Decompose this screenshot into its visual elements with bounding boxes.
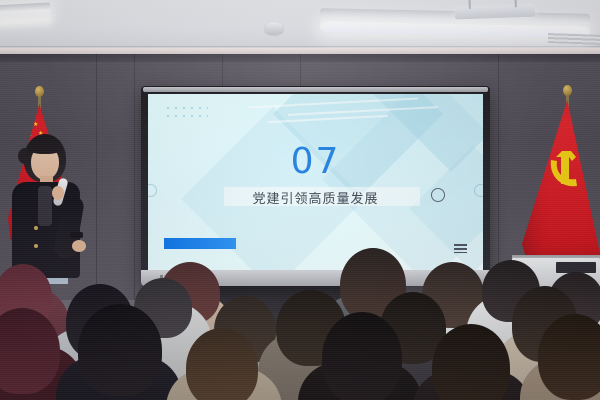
- slide-accent-bar: [164, 238, 236, 249]
- presentation-slide[interactable]: 07 党建引领高质量发展: [148, 94, 483, 270]
- display-top-trim: [143, 87, 488, 92]
- audience-shadow-overlay: [0, 300, 600, 400]
- ceiling-seam: [0, 46, 600, 47]
- photo-scene: 07 党建引领高质量发展 ★ ★ ★ ★ ★: [0, 0, 600, 400]
- dot-grid-icon: [164, 104, 208, 118]
- pendant-rod: [514, 0, 516, 7]
- jacket-button: [34, 226, 38, 230]
- flagpole-finial-left: [35, 86, 44, 97]
- speaker-inner-top: [38, 186, 52, 226]
- air-vent-icon: [548, 33, 600, 45]
- speaker-hair-fringe: [28, 139, 62, 154]
- flagpole-finial-right: [563, 85, 572, 96]
- pendant-rod: [468, 0, 470, 9]
- circle-outline-icon: [431, 188, 445, 202]
- slide-number: 07: [148, 144, 483, 180]
- jacket-button: [34, 244, 38, 248]
- hammer-and-sickle-icon: [545, 146, 585, 194]
- speaker-hand: [52, 186, 64, 200]
- smoke-detector-icon: [265, 22, 283, 34]
- slide-next-arrow-icon[interactable]: [474, 184, 483, 197]
- wristwatch-icon: [70, 232, 83, 238]
